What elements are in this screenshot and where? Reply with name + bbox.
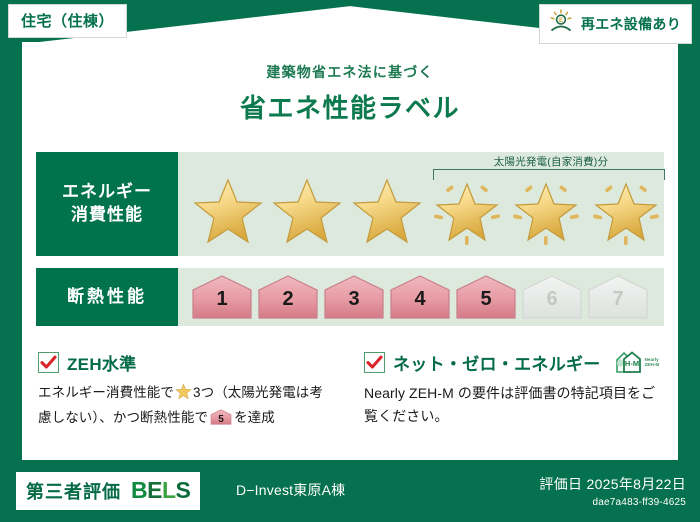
- insulation-grade-value: 4: [414, 289, 425, 320]
- evaluation-date: 評価日 2025年8月22日: [539, 474, 686, 494]
- insulation-performance-row: 断熱性能: [36, 268, 664, 326]
- zeh-m-logo-line2: ZEH-M: [645, 362, 660, 367]
- insulation-performance-label: 断熱性能: [36, 268, 178, 326]
- zeh-criteria-column: ZEH水準 エネルギー消費性能で3つ（太陽光発電は考慮しない）、かつ断熱性能で5…: [22, 348, 350, 458]
- insulation-grade-6: 6: [520, 274, 584, 320]
- insulation-grade-7: 7: [586, 274, 650, 320]
- insulation-grade-2: 2: [256, 274, 320, 320]
- title-main: 省エネ性能ラベル: [22, 88, 678, 125]
- evaluation-meta: 評価日 2025年8月22日 dae7a483-ff39-4625: [539, 474, 686, 508]
- star-icon: [347, 172, 427, 250]
- insulation-grade-5: 5: [454, 274, 518, 320]
- insulation-grade-value: 1: [216, 289, 227, 320]
- solar-sun-icon: E: [548, 9, 574, 38]
- insulation-performance-body: 1 2 3 4: [178, 268, 664, 326]
- inline-grade-badge: 5: [210, 409, 232, 425]
- insulation-grade-1: 1: [190, 274, 254, 320]
- zeh-description: エネルギー消費性能で3つ（太陽光発電は考慮しない）、かつ断熱性能で5を達成: [38, 382, 336, 429]
- zeh-heading: ZEH水準: [67, 350, 137, 375]
- star-sparkle-icon: [427, 172, 507, 250]
- label-frame: 住宅（住棟） E 再エネ設備あり 建築物省エネ法に基づく 省エネ性能ラベル: [0, 0, 700, 522]
- star-sparkle-icon: [586, 172, 666, 250]
- insulation-grade-list: 1 2 3 4: [190, 274, 650, 320]
- nze-heading: ネット・ゼロ・エネルギー: [393, 350, 601, 375]
- energy-performance-row: エネルギー 消費性能 太陽光発電(自家消費)分: [36, 152, 664, 256]
- net-zero-energy-column: ネット・ゼロ・エネルギー H-M Nearly ZEH-M Nearly ZEH…: [350, 348, 678, 458]
- star-sparkle-icon: [506, 172, 586, 250]
- zeh-desc-part3: を達成: [234, 410, 275, 425]
- star-icon: [268, 172, 348, 250]
- zeh-m-house-logo: H-M Nearly ZEH-M: [613, 350, 660, 374]
- insulation-grade-value: 5: [480, 289, 491, 320]
- energy-label-line2: 消費性能: [71, 204, 143, 227]
- insulation-grade-value: 3: [348, 289, 359, 320]
- check-icon: [364, 352, 385, 373]
- nze-heading-row: ネット・ゼロ・エネルギー H-M Nearly ZEH-M: [364, 348, 664, 376]
- house-type-tag: 住宅（住棟）: [8, 4, 127, 38]
- insulation-grade-3: 3: [322, 274, 386, 320]
- bels-badge: 第三者評価 BELS: [16, 472, 200, 510]
- energy-performance-label: エネルギー 消費性能: [36, 152, 178, 256]
- zeh-heading-row: ZEH水準: [38, 348, 336, 376]
- renewable-equipment-badge: E 再エネ設備あり: [539, 4, 692, 44]
- zeh-desc-part1: エネルギー消費性能で: [38, 385, 174, 400]
- check-icon: [38, 352, 59, 373]
- building-name: D−Invest東原A棟: [236, 480, 345, 500]
- title-subtitle: 建築物省エネ法に基づく: [22, 62, 678, 82]
- renewable-badge-label: 再エネ設備あり: [581, 14, 681, 34]
- criteria-section: ZEH水準 エネルギー消費性能で3つ（太陽光発電は考慮しない）、かつ断熱性能で5…: [22, 348, 678, 458]
- insulation-grade-4: 4: [388, 274, 452, 320]
- page-title: 建築物省エネ法に基づく 省エネ性能ラベル: [22, 62, 678, 125]
- energy-performance-body: 太陽光発電(自家消費)分: [178, 152, 664, 256]
- inline-grade-value: 5: [210, 412, 232, 428]
- insulation-grade-value: 6: [546, 289, 557, 320]
- inline-star-icon: [175, 383, 192, 407]
- insulation-grade-value: 7: [612, 289, 623, 320]
- solar-annotation-text: 太陽光発電(自家消費)分: [431, 154, 671, 169]
- insulation-grade-value: 2: [282, 289, 293, 320]
- energy-label-line1: エネルギー: [62, 181, 152, 204]
- evaluation-uid: dae7a483-ff39-4625: [539, 497, 686, 508]
- bels-logo: BELS: [131, 477, 190, 504]
- star-rating: [188, 172, 666, 250]
- svg-text:H-M: H-M: [625, 359, 639, 368]
- star-icon: [188, 172, 268, 250]
- third-party-label: 第三者評価: [26, 478, 121, 504]
- nze-description: Nearly ZEH-M の要件は評価書の特記項目をご覧ください。: [364, 382, 664, 427]
- svg-text:E: E: [559, 18, 563, 24]
